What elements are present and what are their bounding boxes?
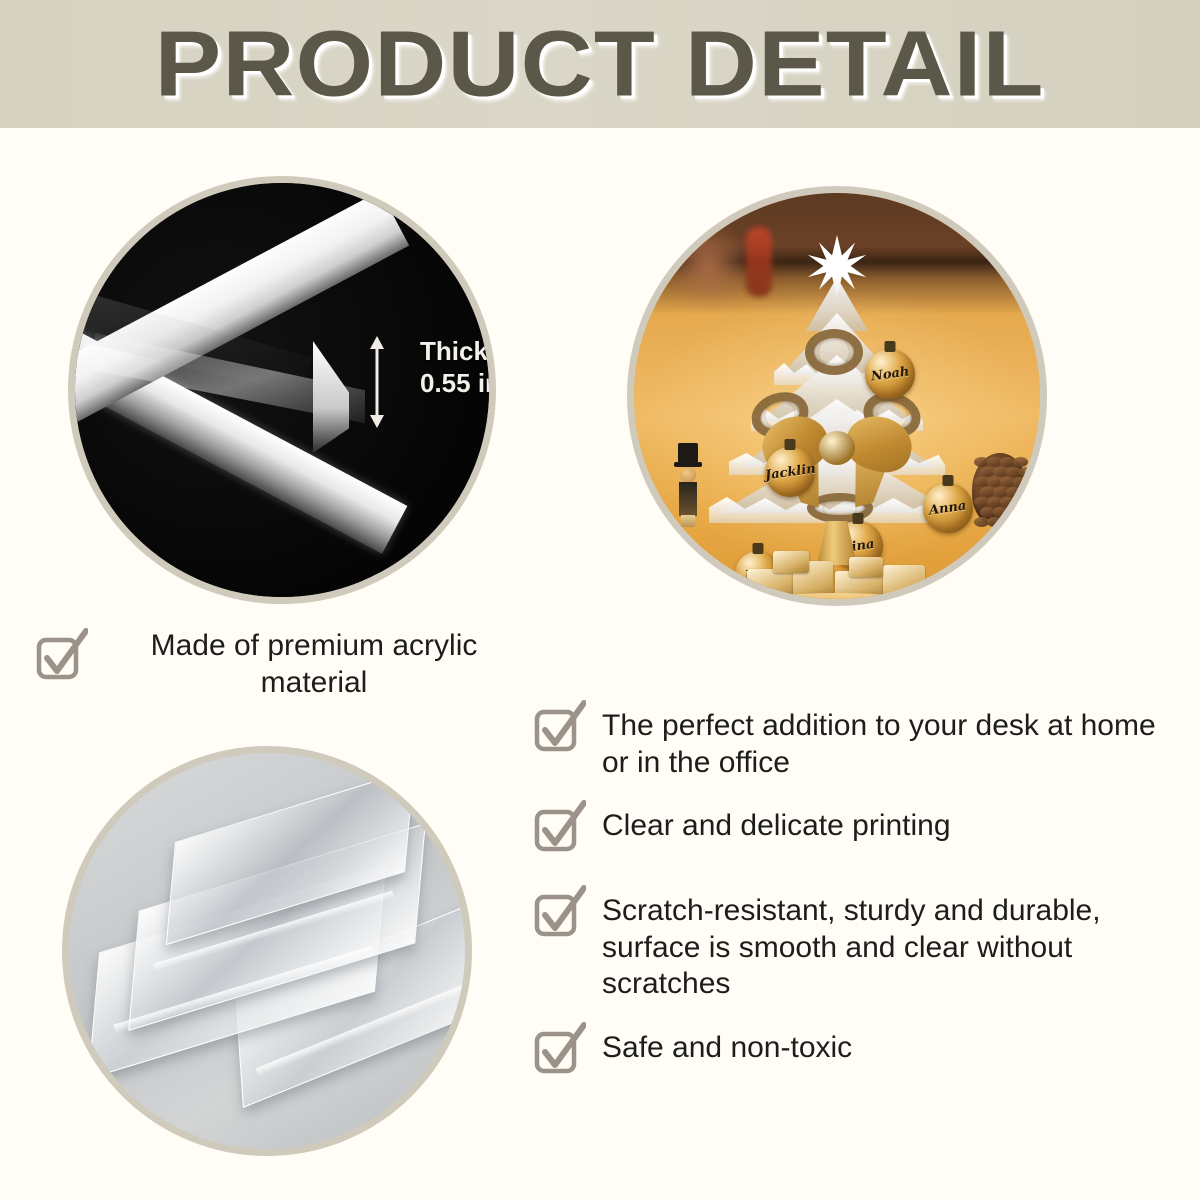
feature-item-material: Made of premium acrylic material [36,628,536,701]
thickness-image-circle: Thickness 0.55 in [68,176,496,604]
wreath-ornament [805,329,863,375]
thickness-arrow-icon: Thickness 0.55 in [366,336,388,428]
checkbox-checked-icon [36,628,88,680]
product-photo-circle: Noah Jacklin Anna Tina Eva Derick [627,186,1047,606]
checkbox-checked-icon [534,885,586,937]
feature-label: Safe and non-toxic [602,1022,852,1067]
feature-label: Clear and delicate printing [602,800,951,845]
name-ornament: Anna [923,483,973,533]
name-ornament: Jacklin [765,447,815,497]
feature-item-printing: Clear and delicate printing [534,800,1184,852]
name-ornament: Noah [865,349,915,399]
checkbox-checked-icon [534,700,586,752]
acrylic-sheets-image-circle [62,746,472,1156]
name-ornament: Derick [969,541,1019,591]
header-banner: PRODUCT DETAIL [0,0,1200,128]
feature-label: Scratch-resistant, sturdy and durable, s… [602,885,1184,1003]
feature-label: The perfect addition to your desk at hom… [602,700,1184,781]
thickness-label: Thickness 0.55 in [420,336,496,399]
page-title: PRODUCT DETAIL [155,11,1045,118]
feature-label: Made of premium acrylic material [104,628,524,701]
checkbox-checked-icon [534,800,586,852]
crystal-tree: Noah Jacklin Anna Tina Eva Derick [687,221,987,551]
feature-item-non-toxic: Safe and non-toxic [534,1022,1184,1074]
checkbox-checked-icon [534,1022,586,1074]
product-detail-page: PRODUCT DETAIL Thickness 0.55 in [0,0,1200,1200]
feature-item-desk: The perfect addition to your desk at hom… [534,700,1184,781]
feature-item-scratch-resistant: Scratch-resistant, sturdy and durable, s… [534,885,1184,1003]
